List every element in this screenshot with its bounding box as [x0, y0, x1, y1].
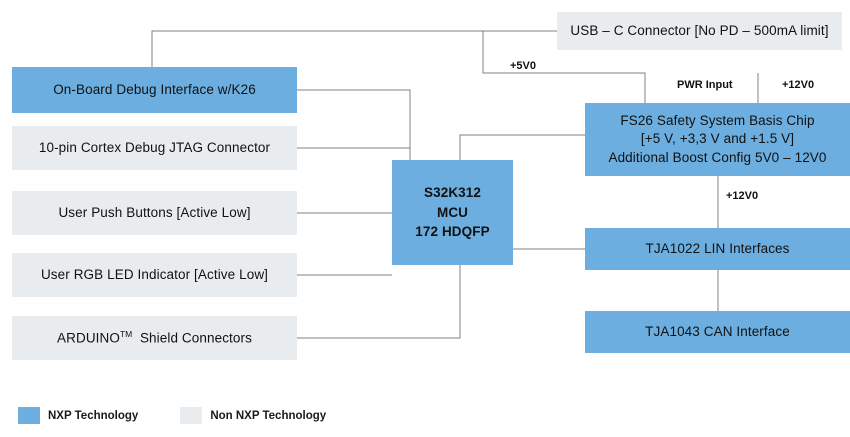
- legend-item-non-nxp: Non NXP Technology: [180, 407, 326, 424]
- arduino-name: ARDUINO: [57, 330, 120, 345]
- block-label: User RGB LED Indicator [Active Low]: [41, 266, 268, 284]
- legend-swatch-nxp-icon: [18, 407, 40, 424]
- block-tja1022-lin[interactable]: TJA1022 LIN Interfaces: [585, 228, 850, 270]
- block-label: TJA1043 CAN Interface: [645, 323, 790, 341]
- block-label: 10-pin Cortex Debug JTAG Connector: [39, 139, 270, 157]
- wire-debug-to-usb: [152, 31, 557, 67]
- block-onboard-debug-interface[interactable]: On-Board Debug Interface w/K26: [12, 67, 297, 113]
- block-arduino-shield-connectors[interactable]: ARDUINOTM Shield Connectors: [12, 316, 297, 360]
- block-label: ARDUINOTM Shield Connectors: [57, 329, 252, 348]
- block-label: USB – C Connector [No PD – 500mA limit]: [570, 22, 828, 40]
- wire-mcu-to-fs26: [460, 135, 585, 160]
- fs26-rails: [+5 V, +3,3 V and +1.5 V]: [641, 130, 794, 148]
- block-s32k312-mcu[interactable]: S32K312 MCU 172 HDQFP: [392, 160, 513, 265]
- fs26-boost: Additional Boost Config 5V0 – 12V0: [608, 149, 826, 167]
- legend-swatch-non-nxp-icon: [180, 407, 202, 424]
- block-label: On-Board Debug Interface w/K26: [53, 81, 256, 99]
- mcu-part-number: S32K312: [424, 183, 481, 203]
- trademark-mark: TM: [120, 329, 132, 339]
- legend-item-nxp: NXP Technology: [18, 407, 138, 424]
- block-label: User Push Buttons [Active Low]: [58, 204, 250, 222]
- legend-label-non-nxp: Non NXP Technology: [210, 410, 326, 422]
- wire-arduino-to-mcu: [297, 265, 460, 338]
- block-usb-c-connector[interactable]: USB – C Connector [No PD – 500mA limit]: [557, 12, 842, 50]
- wire-label-12v0-top: +12V0: [779, 79, 817, 91]
- wire-debug-to-mcu: [297, 90, 410, 160]
- legend-label-nxp: NXP Technology: [48, 410, 138, 422]
- wire-label-12v0-boost: +12V0: [723, 190, 761, 202]
- block-tja1043-can[interactable]: TJA1043 CAN Interface: [585, 311, 850, 353]
- fs26-title: FS26 Safety System Basis Chip: [620, 112, 814, 130]
- wire-label-pwr-input: PWR Input: [674, 79, 736, 91]
- block-diagram: On-Board Debug Interface w/K26 10-pin Co…: [0, 0, 850, 437]
- arduino-suffix: Shield Connectors: [140, 330, 252, 345]
- wire-label-5v0: +5V0: [507, 60, 539, 72]
- block-jtag-connector[interactable]: 10-pin Cortex Debug JTAG Connector: [12, 126, 297, 170]
- block-user-rgb-led[interactable]: User RGB LED Indicator [Active Low]: [12, 253, 297, 297]
- block-user-push-buttons[interactable]: User Push Buttons [Active Low]: [12, 191, 297, 235]
- mcu-type: MCU: [437, 203, 468, 223]
- mcu-package: 172 HDQFP: [415, 222, 489, 242]
- block-fs26-sbc[interactable]: FS26 Safety System Basis Chip [+5 V, +3,…: [585, 103, 850, 176]
- block-label: TJA1022 LIN Interfaces: [645, 240, 789, 258]
- legend: NXP Technology Non NXP Technology: [18, 407, 326, 424]
- wire-jtag-to-mcu: [297, 148, 410, 160]
